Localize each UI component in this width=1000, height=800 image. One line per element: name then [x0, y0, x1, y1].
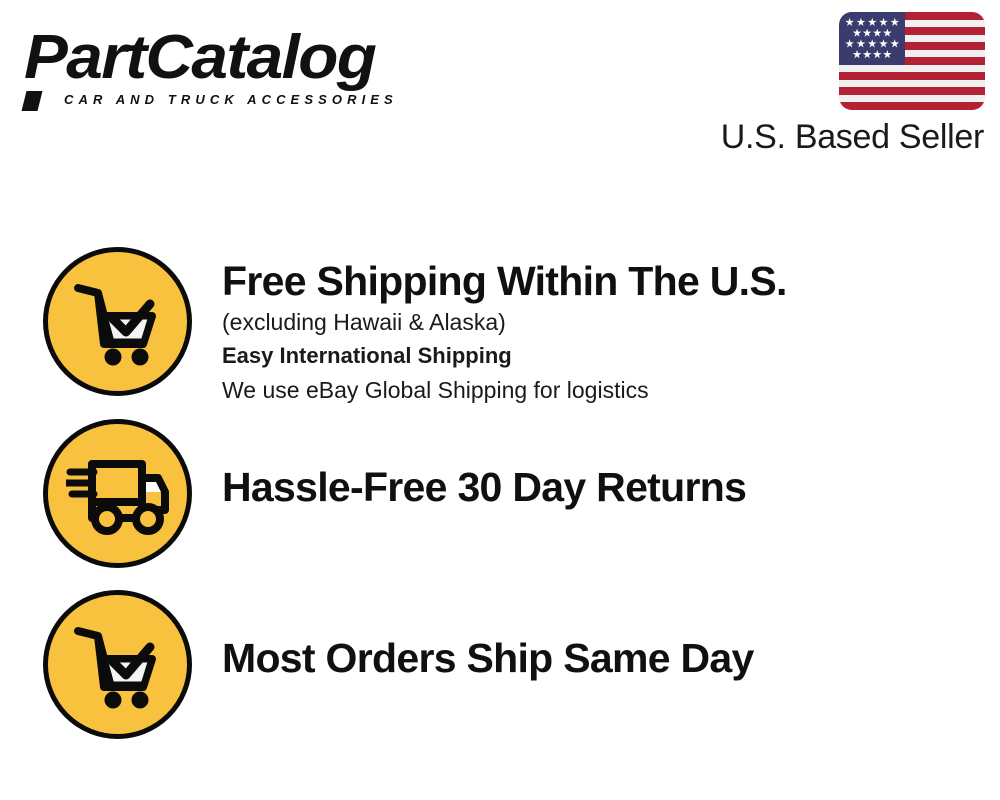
delivery-truck-icon [43, 419, 192, 568]
feature-list: Free Shipping Within The U.S. (excluding… [0, 0, 1000, 800]
shopping-cart-check-icon [43, 247, 192, 396]
shopping-cart-check-icon [43, 590, 192, 739]
feature-title: Free Shipping Within The U.S. [222, 257, 992, 305]
feature-text-block: Most Orders Ship Same Day [222, 634, 992, 682]
feature-text-block: Hassle-Free 30 Day Returns [222, 463, 992, 511]
feature-subline: Easy International Shipping [222, 339, 992, 373]
feature-subline: (excluding Hawaii & Alaska) [222, 305, 992, 339]
feature-subline: We use eBay Global Shipping for logistic… [222, 373, 992, 407]
feature-title: Hassle-Free 30 Day Returns [222, 463, 992, 511]
feature-text-block: Free Shipping Within The U.S. (excluding… [222, 257, 992, 407]
feature-title: Most Orders Ship Same Day [222, 634, 992, 682]
